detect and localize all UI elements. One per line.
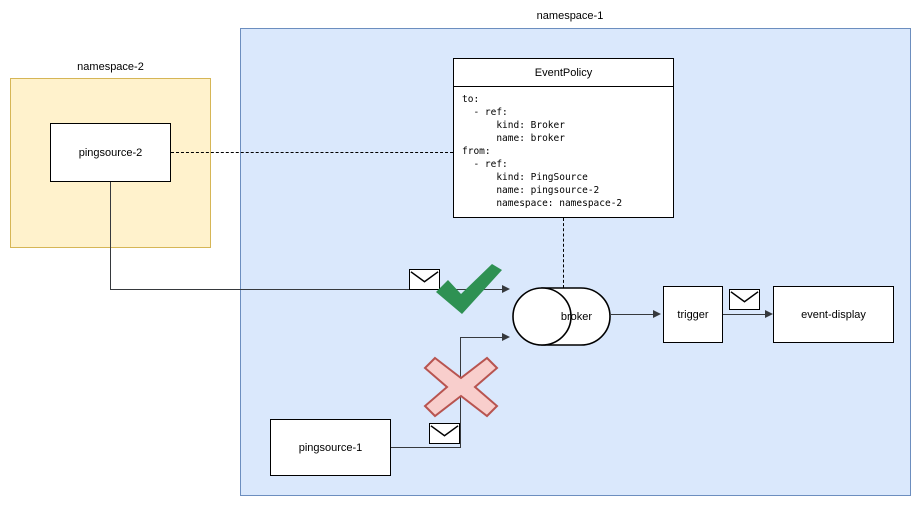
- node-broker[interactable]: broker: [512, 287, 611, 346]
- namespace-2-label: namespace-2: [10, 61, 211, 73]
- node-trigger-label: trigger: [677, 309, 708, 321]
- check-mark-icon: [434, 262, 504, 321]
- edge-eventpolicy-to-broker: [563, 218, 564, 288]
- node-event-display-label: event-display: [801, 309, 866, 321]
- node-trigger[interactable]: trigger: [663, 286, 723, 343]
- node-pingsource-1-label: pingsource-1: [299, 442, 363, 454]
- node-broker-label: broker: [542, 287, 611, 346]
- namespace-1-label: namespace-1: [470, 10, 670, 22]
- edge-pingsource2-segment-v: [110, 182, 111, 290]
- edge-pingsource2-to-eventpolicy: [171, 152, 453, 153]
- edge-pingsource1-arrowhead: [502, 333, 510, 341]
- envelope-icon: [429, 423, 460, 444]
- edge-broker-to-trigger-arrowhead: [653, 310, 661, 318]
- node-pingsource-2-label: pingsource-2: [79, 147, 143, 159]
- edge-pingsource1-segment-h2: [460, 337, 505, 338]
- node-event-display[interactable]: event-display: [773, 286, 894, 343]
- edge-trigger-to-event-display: [723, 314, 767, 315]
- event-policy-card[interactable]: EventPolicy to: - ref: kind: Broker name…: [453, 58, 674, 218]
- node-pingsource-2[interactable]: pingsource-2: [50, 123, 171, 182]
- edge-trigger-to-event-display-arrowhead: [765, 310, 773, 318]
- event-policy-spec: to: - ref: kind: Broker name: broker fro…: [462, 93, 665, 210]
- event-policy-body: to: - ref: kind: Broker name: broker fro…: [453, 87, 674, 218]
- node-pingsource-1[interactable]: pingsource-1: [270, 419, 391, 476]
- event-policy-title: EventPolicy: [453, 58, 674, 87]
- x-mark-icon: [423, 356, 499, 423]
- edge-broker-to-trigger: [611, 314, 655, 315]
- envelope-icon: [729, 289, 760, 310]
- diagram-canvas: namespace-1 namespace-2 EventPolicy to: …: [0, 0, 911, 508]
- edge-pingsource1-segment-h1: [391, 447, 461, 448]
